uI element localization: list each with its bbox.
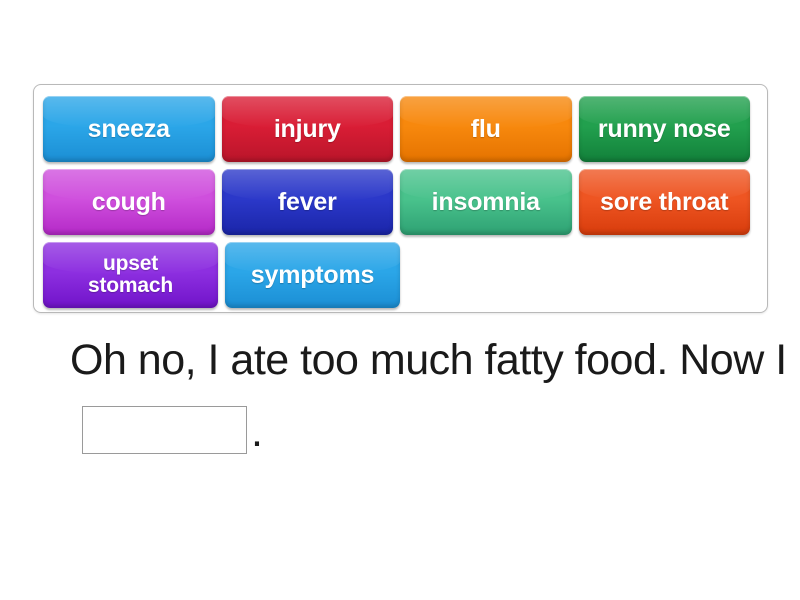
word-tile-label: injury xyxy=(274,116,341,142)
word-tile-label: sore throat xyxy=(600,189,728,215)
word-tile-sore-throat[interactable]: sore throat xyxy=(579,169,751,235)
word-tile-insomnia[interactable]: insomnia xyxy=(400,169,572,235)
word-tile-label: flu xyxy=(471,116,501,142)
word-bank-panel: sneeza injury flu runny nose cough fever… xyxy=(33,84,768,313)
word-tile-symptoms[interactable]: symptoms xyxy=(225,242,400,308)
word-tile-label: insomnia xyxy=(432,189,540,215)
word-bank-row-2: cough fever insomnia sore throat xyxy=(43,169,757,235)
word-tile-injury[interactable]: injury xyxy=(222,96,394,162)
word-tile-label: sneeza xyxy=(88,116,170,142)
word-bank-row-3: upset stomach symptoms xyxy=(43,242,757,308)
word-tile-upset-stomach[interactable]: upset stomach xyxy=(43,242,218,308)
word-tile-sneeza[interactable]: sneeza xyxy=(43,96,215,162)
word-tile-cough[interactable]: cough xyxy=(43,169,215,235)
sentence-prompt: Oh no, I ate too much fatty food. Now I … xyxy=(70,325,750,469)
word-tile-label: upset stomach xyxy=(88,253,173,297)
word-tile-label: fever xyxy=(278,189,337,215)
word-tile-fever[interactable]: fever xyxy=(222,169,394,235)
word-tile-flu[interactable]: flu xyxy=(400,96,572,162)
word-tile-label: cough xyxy=(92,189,166,215)
word-tile-label: runny nose xyxy=(598,116,731,142)
word-bank-row-1: sneeza injury flu runny nose xyxy=(43,96,757,162)
word-tile-runny-nose[interactable]: runny nose xyxy=(579,96,751,162)
sentence-text-after: . xyxy=(251,408,262,456)
sentence-text-before: Oh no, I ate too much fatty food. Now I … xyxy=(70,336,800,384)
word-tile-label: symptoms xyxy=(251,262,374,288)
answer-drop-blank[interactable] xyxy=(82,406,247,454)
